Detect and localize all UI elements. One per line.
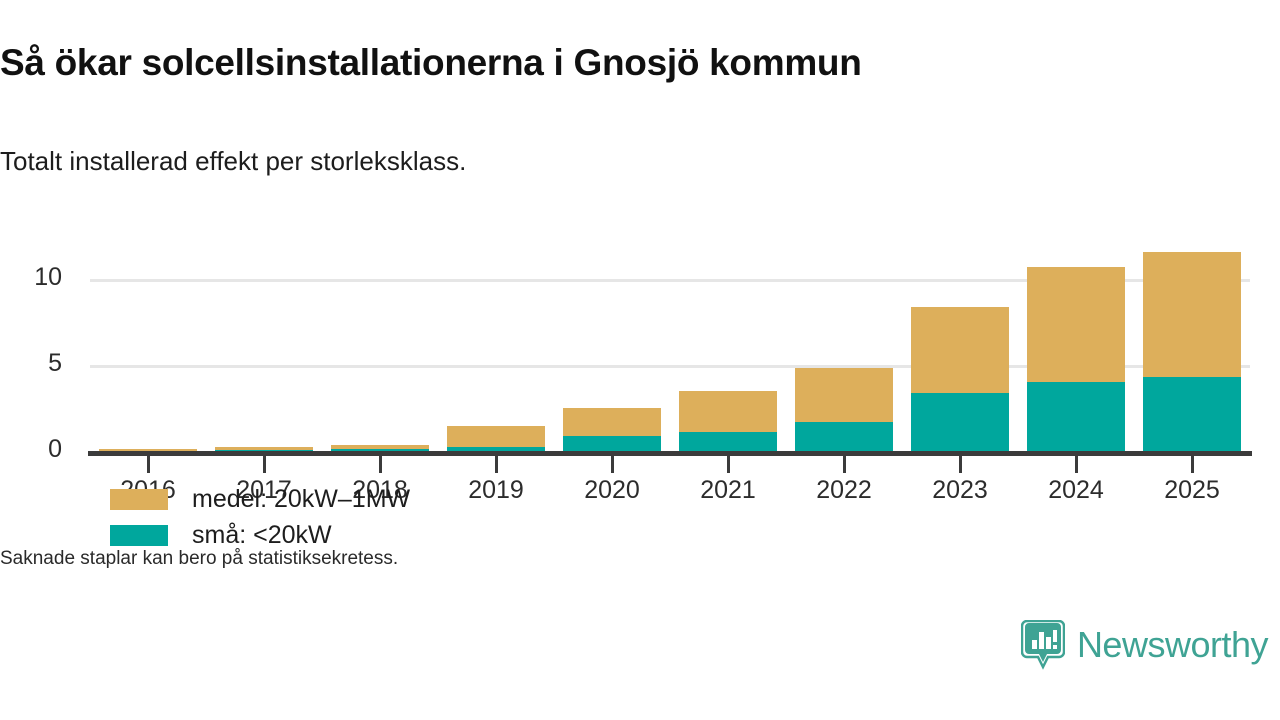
bar-segment-small[interactable] (911, 393, 1009, 451)
bar-group[interactable] (795, 236, 893, 451)
x-axis-tick (611, 456, 614, 473)
chart-legend: medel: 20kW–1MWsmå: <20kW (110, 481, 410, 553)
bar-group[interactable] (563, 236, 661, 451)
x-axis-tick-label: 2025 (1134, 476, 1250, 505)
bar-segment-medium[interactable] (1143, 252, 1241, 378)
bar-chart-bubble-icon (1021, 620, 1065, 670)
x-axis-tick (1075, 456, 1078, 473)
logo-wordmark: Newsworthy (1077, 627, 1268, 663)
bar-segment-medium[interactable] (795, 368, 893, 422)
x-axis-tick (1191, 456, 1194, 473)
x-axis-tick (147, 456, 150, 473)
bar-group[interactable] (911, 236, 1009, 451)
bar-group[interactable] (1027, 236, 1125, 451)
x-axis-tick (495, 456, 498, 473)
bar-segment-medium[interactable] (447, 426, 545, 447)
legend-swatch (110, 525, 168, 546)
x-axis-tick (263, 456, 266, 473)
legend-item[interactable]: medel: 20kW–1MW (110, 481, 410, 517)
bar-group[interactable] (1143, 236, 1241, 451)
bar-segment-small[interactable] (563, 436, 661, 451)
bar-segment-small[interactable] (1143, 377, 1241, 451)
x-axis-tick-label: 2019 (438, 476, 554, 505)
bar-group[interactable] (331, 236, 429, 451)
bar-segment-medium[interactable] (1027, 267, 1125, 382)
legend-item[interactable]: små: <20kW (110, 517, 410, 553)
bar-segment-medium[interactable] (563, 408, 661, 436)
bar-segment-medium[interactable] (215, 447, 313, 450)
x-axis-tick-label: 2024 (1018, 476, 1134, 505)
bar-segment-medium[interactable] (679, 391, 777, 432)
x-axis-tick-label: 2022 (786, 476, 902, 505)
bar-segment-small[interactable] (1027, 382, 1125, 451)
bar-chart: 0510 20162017201820192020202120222023202… (0, 236, 1280, 526)
newsworthy-logo: Newsworthy (1021, 620, 1268, 670)
x-axis-tick-label: 2023 (902, 476, 1018, 505)
x-axis-tick (727, 456, 730, 473)
bar-group[interactable] (215, 236, 313, 451)
bar-group[interactable] (679, 236, 777, 451)
x-axis-tick-label: 2020 (554, 476, 670, 505)
bar-series-container (90, 236, 1250, 451)
legend-swatch (110, 489, 168, 510)
chart-page: Så ökar solcellsinstallationerna i Gnosj… (0, 0, 1280, 720)
bar-group[interactable] (447, 236, 545, 451)
x-axis-tick (843, 456, 846, 473)
legend-label: medel: 20kW–1MW (192, 485, 410, 514)
legend-label: små: <20kW (192, 521, 332, 550)
y-axis-tick-label: 10 (34, 265, 62, 290)
page-subtitle: Totalt installerad effekt per storlekskl… (0, 146, 466, 177)
bar-segment-medium[interactable] (911, 307, 1009, 392)
plot-area (90, 236, 1250, 451)
bar-segment-small[interactable] (679, 432, 777, 451)
y-axis-tick-label: 0 (48, 437, 62, 462)
x-axis-tick-label: 2021 (670, 476, 786, 505)
x-axis-tick (379, 456, 382, 473)
page-title: Så ökar solcellsinstallationerna i Gnosj… (0, 42, 862, 84)
x-axis-tick (959, 456, 962, 473)
bar-segment-medium[interactable] (331, 445, 429, 449)
bar-segment-small[interactable] (795, 422, 893, 451)
bar-group[interactable] (99, 236, 197, 451)
y-axis-tick-label: 5 (48, 351, 62, 376)
